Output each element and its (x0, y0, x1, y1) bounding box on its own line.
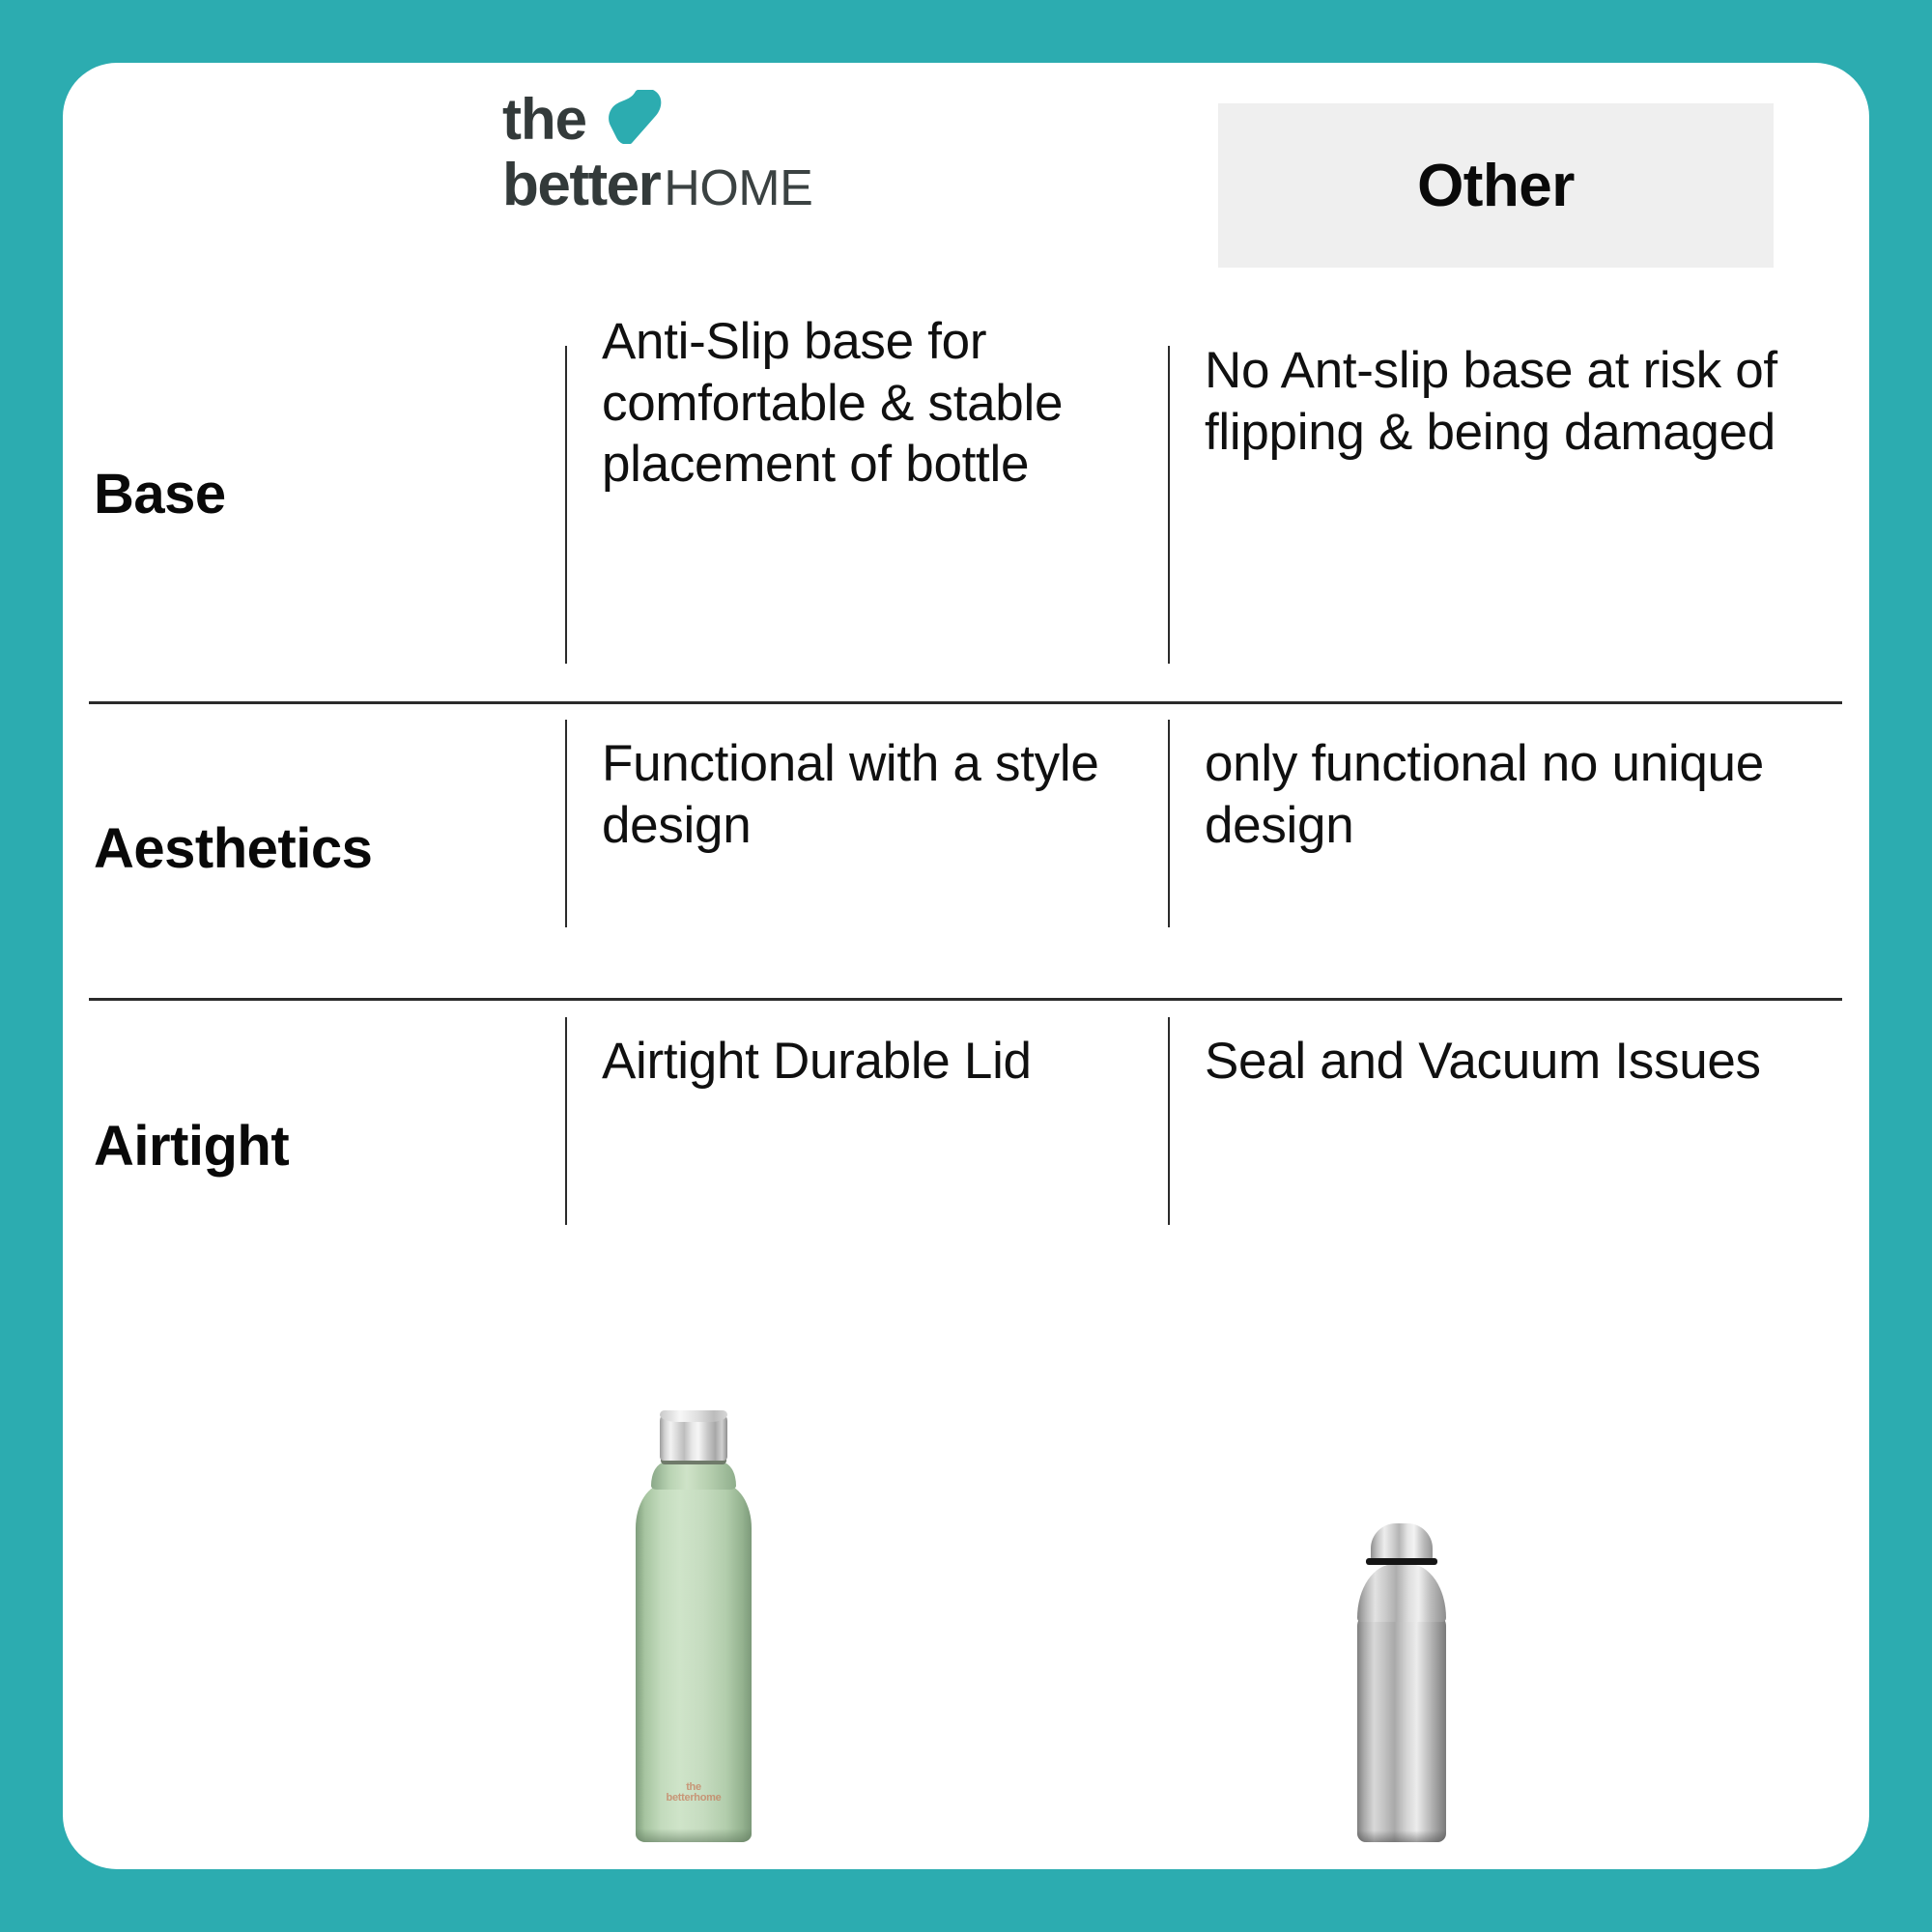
bottle-cap (1371, 1523, 1433, 1560)
bottle-body (1357, 1616, 1446, 1842)
brand-logo-line1: the (502, 87, 889, 147)
bottle-neck (651, 1463, 736, 1490)
other-value-cell: No Ant-slip base at risk of flipping & b… (1168, 290, 1844, 700)
table-row: Aesthetics Functional with a style desig… (63, 702, 1869, 997)
brand-logo-home: HOME (664, 159, 812, 217)
feature-label: Base (94, 466, 226, 525)
other-value-cell: only functional no unique design (1168, 702, 1844, 997)
feature-label: Airtight (94, 1118, 289, 1177)
brand-logo-better: better (502, 151, 660, 219)
feature-cell: Aesthetics (63, 702, 565, 997)
comparison-header: the better HOME Other (63, 63, 1869, 285)
brand-bottle-image: the betterhome (626, 1412, 761, 1842)
brand-value-cell: Functional with a style design (565, 702, 1168, 997)
teal-frame: the better HOME Other (0, 0, 1932, 1932)
brand-logo-the: the (502, 92, 586, 147)
bottle-shoulder (1357, 1564, 1446, 1622)
other-value-text: only functional no unique design (1205, 702, 1815, 856)
brand-value-text: Airtight Durable Lid (602, 1000, 1032, 1093)
bottle-band (1366, 1558, 1437, 1565)
feature-cell: Airtight (63, 1000, 565, 1294)
heart-icon (606, 90, 669, 144)
brand-value-text: Anti-Slip base for comfortable & stable … (602, 290, 1139, 496)
other-value-text: No Ant-slip base at risk of flipping & b… (1205, 290, 1815, 463)
other-bottle-image (1344, 1523, 1460, 1842)
other-column-header: Other (1218, 103, 1774, 268)
comparison-card: the better HOME Other (63, 63, 1869, 1869)
brand-value-text: Functional with a style design (602, 702, 1139, 856)
brand-logo[interactable]: the better HOME (502, 87, 889, 222)
brand-logo-line2: better HOME (502, 151, 889, 219)
feature-label: Aesthetics (94, 820, 372, 879)
other-column-label: Other (1417, 152, 1575, 220)
brand-value-cell: Anti-Slip base for comfortable & stable … (565, 290, 1168, 700)
bottle-cap-top (660, 1410, 727, 1422)
bottle-body: the betterhome (636, 1484, 752, 1842)
bottle-printed-logo-line2: betterhome (636, 1793, 752, 1804)
table-row: Airtight Airtight Durable Lid Seal and V… (63, 1000, 1869, 1294)
other-value-text: Seal and Vacuum Issues (1205, 1000, 1761, 1093)
feature-cell: Base (63, 290, 565, 700)
brand-value-cell: Airtight Durable Lid (565, 1000, 1168, 1294)
other-value-cell: Seal and Vacuum Issues (1168, 1000, 1844, 1294)
product-image-area: the betterhome (63, 1294, 1869, 1869)
bottle-printed-logo: the betterhome (636, 1782, 752, 1804)
table-row: Base Anti-Slip base for comfortable & st… (63, 290, 1869, 700)
